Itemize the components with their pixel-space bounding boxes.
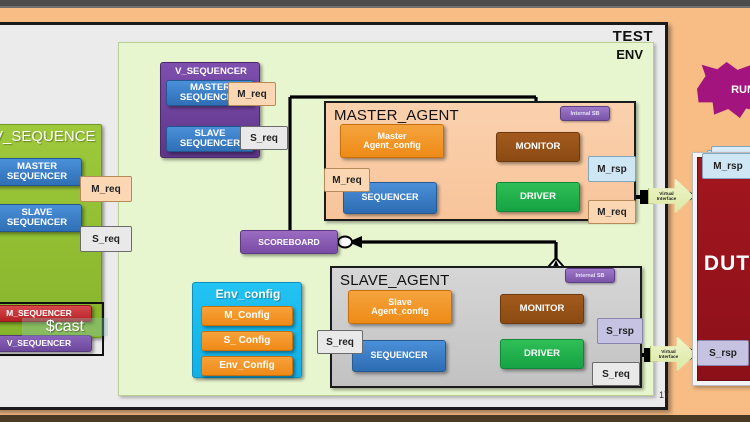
env-config-m-config[interactable]: M_Config xyxy=(201,306,293,326)
transaction-label: M_req xyxy=(597,207,626,218)
transaction-card-s-rsp-slave[interactable]: S_rsp xyxy=(597,318,643,344)
transaction-card-s-req-v-sequencer[interactable]: S_req xyxy=(240,126,288,150)
transaction-card-s-req-v-sequence[interactable]: S_req xyxy=(80,226,132,252)
slave-agent-monitor[interactable]: MONITOR xyxy=(500,294,584,324)
env-config-m-config-label: M_Config xyxy=(224,311,270,322)
slave-internal-sb-badge: Internal SB xyxy=(565,268,615,283)
master-agent-sequencer-label: SEQUENCER xyxy=(361,193,418,202)
transaction-label: M_req xyxy=(332,175,361,186)
master-agent-driver-label: DRIVER xyxy=(520,192,556,202)
slave-agent-config[interactable]: Slave Agent_config xyxy=(348,290,452,324)
env-config-env-config-label: Env_Config xyxy=(219,361,275,372)
transaction-label: M_rsp xyxy=(713,161,742,172)
v-sequence-slave-sequencer[interactable]: SLAVE SEQUENCER xyxy=(0,204,82,232)
transaction-card-m-req-master-driver[interactable]: M_req xyxy=(588,200,636,224)
slave-agent-driver[interactable]: DRIVER xyxy=(500,339,584,369)
top-strip-shadow xyxy=(0,6,750,8)
master-internal-sb-badge: Internal SB xyxy=(560,106,610,121)
virtual-interface-master-label: Virtual Interface xyxy=(657,191,677,202)
scoreboard-label: SCOREBOARD xyxy=(258,238,319,247)
transaction-label: M_rsp xyxy=(597,164,626,175)
transaction-card-s-req-slave-driver[interactable]: S_req xyxy=(592,362,640,386)
transaction-label: M_req xyxy=(91,184,120,195)
master-agent-monitor-label: MONITOR xyxy=(516,142,561,152)
bottom-strip xyxy=(0,415,750,422)
transaction-label: S_req xyxy=(602,369,630,380)
cast-v-sequencer[interactable]: V_SEQUENCER xyxy=(0,335,92,352)
slave-agent-title: SLAVE_AGENT xyxy=(340,272,449,289)
virtual-interface-slave-label: Virtual Interface xyxy=(659,349,679,360)
dut-label: DUT xyxy=(697,252,750,276)
transaction-label: S_req xyxy=(92,234,120,245)
transaction-card-m-rsp-master[interactable]: M_rsp xyxy=(588,156,636,182)
transaction-label: M_req xyxy=(237,89,266,100)
transaction-label: S_rsp xyxy=(709,348,737,359)
master-agent-title: MASTER_AGENT xyxy=(334,107,459,124)
slave-agent-config-label: Slave Agent_config xyxy=(371,298,429,317)
slave-agent-driver-label: DRIVER xyxy=(524,349,560,359)
v-sequence-master-sequencer[interactable]: MASTER SEQUENCER xyxy=(0,158,82,186)
v-sequence-master-sequencer-label: MASTER SEQUENCER xyxy=(7,162,67,182)
transaction-card-m-req-v-sequencer[interactable]: M_req xyxy=(228,82,276,106)
slave-agent-sequencer-label: SEQUENCER xyxy=(370,351,427,360)
transaction-label: S_req xyxy=(250,133,278,144)
env-config-env-config[interactable]: Env_Config xyxy=(201,356,293,376)
transaction-card-m-req-master-sequencer[interactable]: M_req xyxy=(324,168,370,192)
v-sequencer-slave-sequencer-label: SLAVE SEQUENCER xyxy=(180,129,240,149)
diagram-stage: TEST ENV xyxy=(0,0,750,422)
run-label: RUN xyxy=(731,84,750,96)
transaction-card-m-req-v-sequence[interactable]: M_req xyxy=(80,176,132,202)
cast-annotation: $cast xyxy=(22,318,108,336)
cast-m-sequencer-label: M_SEQUENCER xyxy=(6,309,72,318)
master-agent-config[interactable]: Master Agent_config xyxy=(340,124,444,158)
master-internal-sb-label: Internal SB xyxy=(570,111,599,117)
run-starburst-icon[interactable]: RUN xyxy=(697,62,750,118)
v-sequence-slave-sequencer-label: SLAVE SEQUENCER xyxy=(7,208,67,228)
master-agent-driver[interactable]: DRIVER xyxy=(496,182,580,212)
scoreboard-block[interactable]: SCOREBOARD xyxy=(240,230,338,254)
slave-agent-sequencer[interactable]: SEQUENCER xyxy=(352,340,446,372)
transaction-card-s-req-slave-sequencer[interactable]: S_req xyxy=(317,330,363,354)
v-sequencer-title: V_SEQUENCER xyxy=(161,67,261,77)
master-agent-config-label: Master Agent_config xyxy=(363,132,421,151)
env-label: ENV xyxy=(616,47,643,62)
env-config-s-config[interactable]: S_ Config xyxy=(201,331,293,351)
env-config-s-config-label: S_ Config xyxy=(224,336,271,347)
transaction-card-m-rsp-dut[interactable]: M_rsp xyxy=(702,153,750,179)
cast-v-sequencer-label: V_SEQUENCER xyxy=(7,339,71,348)
slave-agent-monitor-label: MONITOR xyxy=(520,304,565,314)
env-config-title: Env_config xyxy=(193,288,303,301)
transaction-card-s-rsp-dut[interactable]: S_rsp xyxy=(697,340,749,366)
transaction-label: S_req xyxy=(326,337,354,348)
master-agent-monitor[interactable]: MONITOR xyxy=(496,132,580,162)
page-number: 17 xyxy=(659,390,669,400)
transaction-label: S_rsp xyxy=(606,326,634,337)
v-sequence-title: V_SEQUENCE xyxy=(0,129,96,145)
slave-internal-sb-label: Internal SB xyxy=(575,273,604,279)
